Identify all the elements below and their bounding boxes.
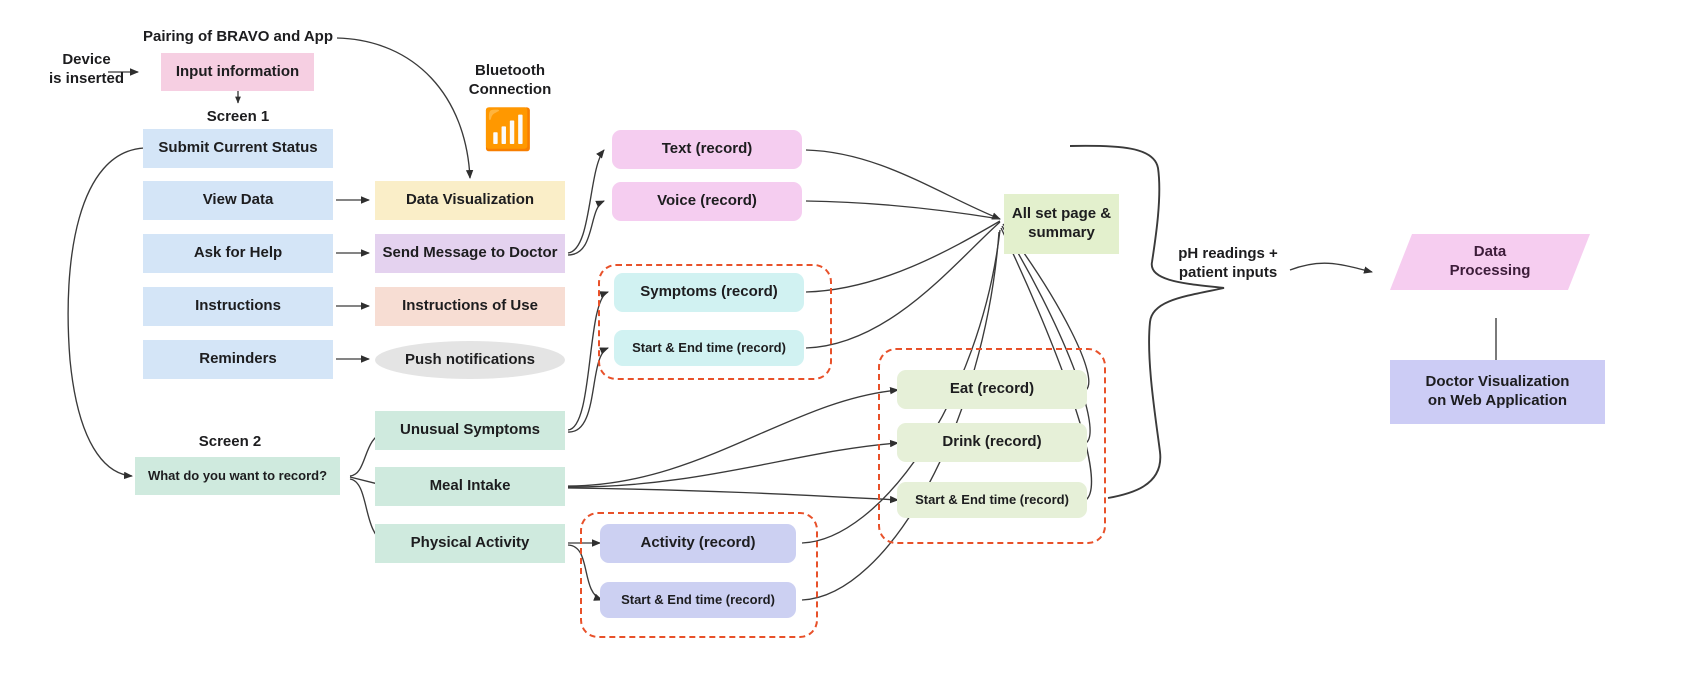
node-instructions[interactable]: Instructions <box>143 287 333 326</box>
node-data-processing[interactable]: Data Processing <box>1390 234 1590 290</box>
device-inserted-label: Device is inserted <box>34 51 139 89</box>
node-meal-intake[interactable]: Meal Intake <box>375 467 565 506</box>
node-doctor-visualization[interactable]: Doctor Visualization on Web Application <box>1390 360 1605 424</box>
node-submit-current-status[interactable]: Submit Current Status <box>143 129 333 168</box>
node-input-information[interactable]: Input information <box>161 53 314 91</box>
node-physical-activity[interactable]: Physical Activity <box>375 524 565 563</box>
node-activity-record[interactable]: Activity (record) <box>600 524 796 563</box>
node-symptoms-record[interactable]: Symptoms (record) <box>614 273 804 312</box>
node-data-visualization[interactable]: Data Visualization <box>375 181 565 220</box>
node-ask-for-help[interactable]: Ask for Help <box>143 234 333 273</box>
node-unusual-symptoms[interactable]: Unusual Symptoms <box>375 411 565 450</box>
node-drink-record[interactable]: Drink (record) <box>897 423 1087 462</box>
pairing-label: Pairing of BRAVO and App <box>138 28 338 47</box>
node-voice-record[interactable]: Voice (record) <box>612 182 802 221</box>
ph-readings-label: pH readings + patient inputs <box>1158 245 1298 283</box>
screen1-label: Screen 1 <box>188 108 288 127</box>
flowchart-canvas: Device is inserted Pairing of BRAVO and … <box>0 0 1682 694</box>
node-view-data[interactable]: View Data <box>143 181 333 220</box>
screen2-label: Screen 2 <box>180 433 280 452</box>
bluetooth-connection-label: Bluetooth Connection <box>450 62 570 100</box>
node-text-record[interactable]: Text (record) <box>612 130 802 169</box>
node-reminders[interactable]: Reminders <box>143 340 333 379</box>
node-symptoms-start-end-time-record[interactable]: Start & End time (record) <box>614 330 804 366</box>
bluetooth-icon: 📶 <box>483 110 533 150</box>
node-instructions-of-use[interactable]: Instructions of Use <box>375 287 565 326</box>
node-meal-start-end-time-record[interactable]: Start & End time (record) <box>897 482 1087 518</box>
node-push-notifications[interactable]: Push notifications <box>375 341 565 379</box>
node-activity-start-end-time-record[interactable]: Start & End time (record) <box>600 582 796 618</box>
node-eat-record[interactable]: Eat (record) <box>897 370 1087 409</box>
node-send-message-to-doctor[interactable]: Send Message to Doctor <box>375 234 565 273</box>
data-processing-label: Data Processing <box>1390 234 1590 290</box>
node-all-set-page-summary[interactable]: All set page & summary <box>1004 194 1119 254</box>
node-screen2-prompt[interactable]: What do you want to record? <box>135 457 340 495</box>
